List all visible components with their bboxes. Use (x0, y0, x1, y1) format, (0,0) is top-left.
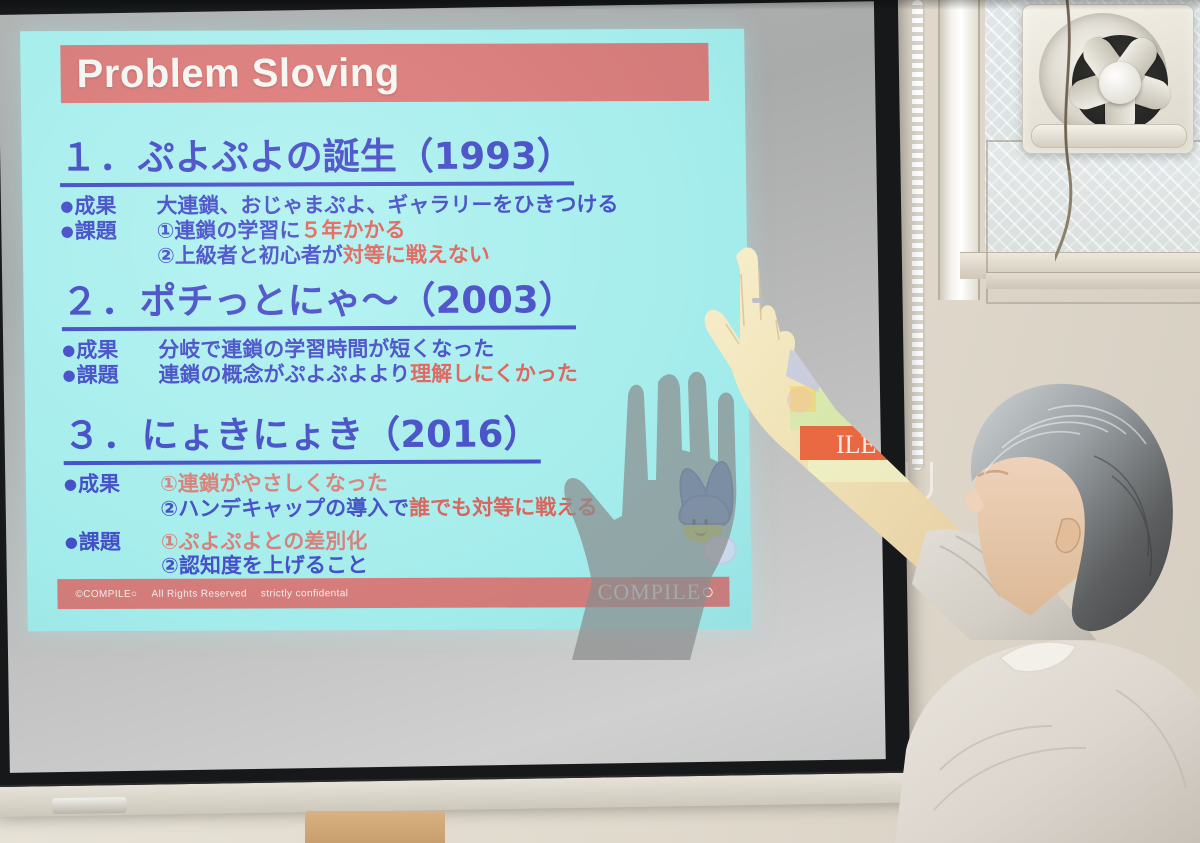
section-1-label-seika: ●成果 (60, 194, 156, 219)
section-3-name: にょきにょき (141, 413, 364, 457)
text-line: ①連鎖の学習に５年かかる (157, 217, 490, 243)
section-1-name: ぷよぷよの誕生 (137, 135, 397, 179)
text-line: ②認知度を上げること (161, 553, 368, 578)
whiteboard-marker[interactable] (52, 797, 126, 814)
section-3-kadai-lines: ①ぷよぷよとの差別化 ②認知度を上げること (161, 529, 368, 579)
text-line: 連鎖の概念がぷよぷよより理解しにくかった (158, 361, 578, 387)
blind-pull-cord[interactable] (912, 0, 923, 470)
section-2-heading: ２．ポチっとにゃ～（2003） (61, 269, 576, 331)
mascot-character-icon (674, 459, 749, 569)
label-text: 課題 (79, 529, 121, 553)
bullet-dot-icon: ● (62, 341, 75, 359)
section-2-row-kadai: ●課題 連鎖の概念がぷよぷよより理解しにくかった (62, 361, 712, 388)
text-line: ②ハンデキャップの導入で誰でも対等に戦える (160, 495, 597, 521)
label-text: 課題 (75, 219, 117, 243)
slide-section-2: ２．ポチっとにゃ～（2003） ●成果 分岐で連鎖の学習時間が短くなった ●課題 (61, 269, 713, 388)
section-2-kadai-lines: 連鎖の概念がぷよぷよより理解しにくかった (158, 361, 578, 387)
label-text: 成果 (78, 472, 120, 496)
ventilation-fan-icon (1022, 4, 1194, 154)
section-1-year: （1993） (396, 134, 574, 178)
section-3-label-seika: ●成果 (64, 472, 160, 497)
section-3-number: ３． (63, 414, 142, 457)
blind-cord-hook[interactable] (905, 462, 933, 501)
slide-section-1: １．ぷよぷよの誕生（1993） ●成果 大連鎖、おじゃまぷよ、ギャラリーをひきつ… (59, 125, 711, 269)
footer-rights: All Rights Reserved (151, 588, 247, 599)
label-text: 成果 (74, 194, 116, 218)
section-2-row-seika: ●成果 分岐で連鎖の学習時間が短くなった (62, 336, 712, 363)
ceiling-shadow (0, 0, 1200, 10)
section-1-kadai-lines: ①連鎖の学習に５年かかる ②上級者と初心者が対等に戦えない (157, 217, 490, 268)
bullet-dot-icon: ● (60, 197, 73, 215)
slide-section-3: ３．にょきにょき（2016） ●成果 ①連鎖がやさしくなった ②ハンデキャップの… (63, 403, 715, 579)
section-1-number: １． (59, 136, 138, 179)
photo-scene: Problem Sloving １．ぷよぷよの誕生（1993） ●成果 大連鎖、… (0, 0, 1200, 843)
section-2-year: （2003） (398, 278, 576, 322)
section-3-row-kadai: ●課題 ①ぷよぷよとの差別化 ②認知度を上げること (65, 527, 716, 579)
section-1-heading: １．ぷよぷよの誕生（1993） (59, 125, 574, 187)
text-line: 大連鎖、おじゃまぷよ、ギャラリーをひきつける (156, 192, 618, 218)
slide-footer-bar: ©COMPILE○All Rights Reservedstrictly con… (57, 577, 729, 609)
bullet-dot-icon: ● (62, 366, 75, 384)
section-3-row-seika: ●成果 ①連鎖がやさしくなった ②ハンデキャップの導入で誰でも対等に戦える (64, 470, 715, 522)
section-3-year: （2016） (363, 412, 541, 456)
bullet-dot-icon: ● (64, 475, 77, 493)
desk-edge (305, 811, 445, 843)
text-line: 分岐で連鎖の学習時間が短くなった (158, 337, 494, 363)
slide-title: Problem Sloving (76, 50, 400, 96)
footer-copyright-text: ©COMPILE○All Rights Reservedstrictly con… (75, 588, 362, 600)
compile-logo: COMPILE○ (597, 579, 715, 605)
section-3-label-kadai: ●課題 (65, 529, 161, 554)
bullet-dot-icon: ● (65, 533, 78, 551)
footer-copyright: ©COMPILE○ (75, 588, 137, 599)
bullet-dot-icon: ● (61, 222, 74, 240)
section-2-name: ポチっとにゃ～ (139, 279, 399, 323)
projected-slide: Problem Sloving １．ぷよぷよの誕生（1993） ●成果 大連鎖、… (20, 29, 752, 631)
text-line: ①ぷよぷよとの差別化 (161, 529, 368, 554)
fan-wall-panel-lip (986, 272, 1200, 289)
section-3-heading: ３．にょきにょき（2016） (63, 403, 541, 465)
section-2-label-kadai: ●課題 (62, 363, 158, 388)
section-2-number: ２． (61, 280, 140, 323)
section-1-seika-lines: 大連鎖、おじゃまぷよ、ギャラリーをひきつける (156, 192, 618, 218)
text-line: ①連鎖がやさしくなった (160, 470, 597, 496)
footer-confidential: strictly confidental (261, 588, 349, 599)
label-text: 課題 (76, 363, 118, 387)
section-2-seika-lines: 分岐で連鎖の学習時間が短くなった (158, 337, 494, 363)
section-3-seika-lines: ①連鎖がやさしくなった ②ハンデキャップの導入で誰でも対等に戦える (160, 470, 598, 521)
section-1-label-kadai: ●課題 (61, 219, 157, 244)
label-text: 成果 (76, 338, 118, 362)
text-line: ②上級者と初心者が対等に戦えない (157, 242, 490, 268)
section-2-label-seika: ●成果 (62, 338, 158, 363)
section-1-row-seika: ●成果 大連鎖、おじゃまぷよ、ギャラリーをひきつける (60, 192, 710, 219)
section-1-row-kadai: ●課題 ①連鎖の学習に５年かかる ②上級者と初心者が対等に戦えない (61, 217, 712, 269)
slide-title-bar: Problem Sloving (60, 43, 709, 103)
